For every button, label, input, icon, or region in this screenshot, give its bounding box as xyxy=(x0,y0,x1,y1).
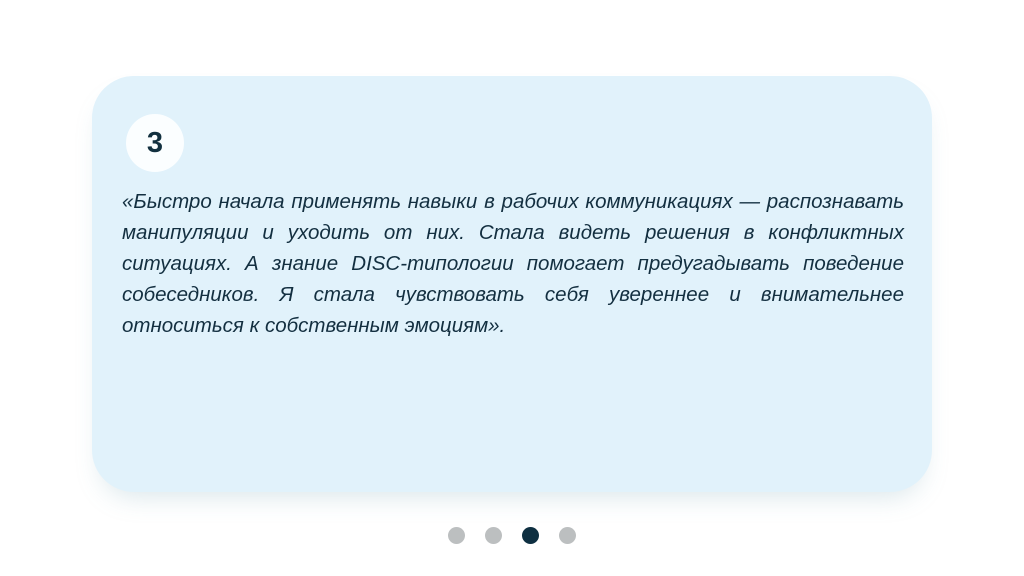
testimonial-card: 3 «Быстро начала применять навыки в рабо… xyxy=(92,76,932,492)
pagination-dot-4[interactable] xyxy=(559,527,576,544)
slide-root: 3 «Быстро начала применять навыки в рабо… xyxy=(0,0,1024,576)
pagination-dot-2[interactable] xyxy=(485,527,502,544)
pagination-dot-3[interactable] xyxy=(522,527,539,544)
step-number-badge: 3 xyxy=(126,114,184,172)
testimonial-quote-text: «Быстро начала применять навыки в рабочи… xyxy=(122,186,904,341)
pagination-dot-1[interactable] xyxy=(448,527,465,544)
step-number-label: 3 xyxy=(147,129,163,158)
carousel-pagination[interactable] xyxy=(0,527,1024,544)
